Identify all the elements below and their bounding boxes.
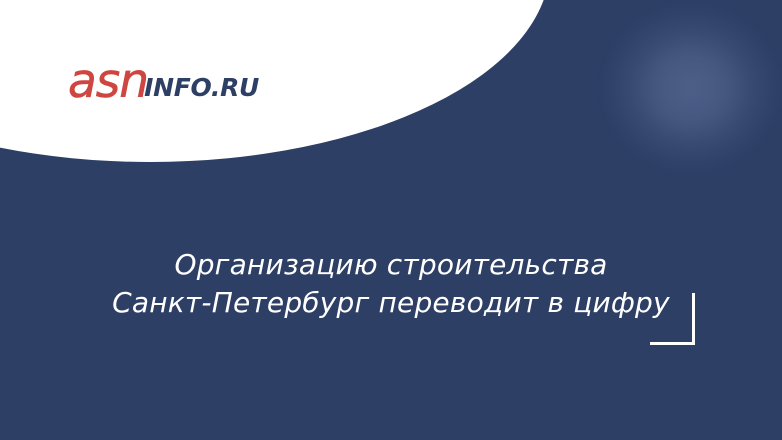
headline-line-2: Санкт-Петербург переводит в цифру <box>60 284 722 322</box>
asninfo-logo[interactable]: aSN INFO.RU <box>68 58 259 105</box>
bracket-horizontal-bar <box>650 342 695 345</box>
corner-bracket-decoration <box>650 293 695 345</box>
radial-glow-decoration <box>602 4 780 172</box>
logo-suffix-infodotru: INFO.RU <box>144 75 259 100</box>
headline-line-1: Организацию строительства <box>60 246 722 284</box>
logo-mark-asn: aSN <box>68 58 148 105</box>
news-card: aSN INFO.RU Организацию строительства Са… <box>0 0 782 440</box>
bracket-vertical-bar <box>692 293 695 345</box>
